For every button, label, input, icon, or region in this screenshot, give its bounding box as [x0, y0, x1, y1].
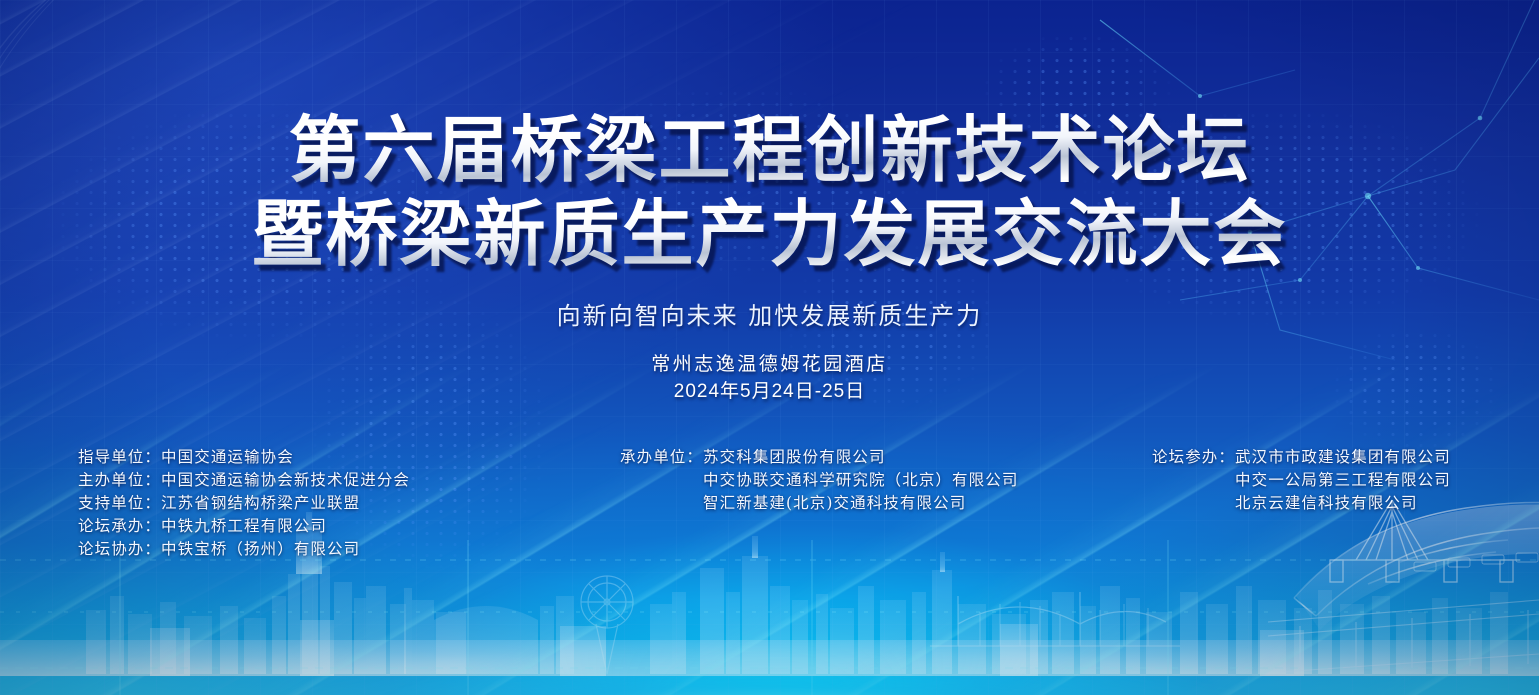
- organizer-label: 论坛参办：: [1152, 446, 1235, 469]
- organizer-row: 承办单位：中交协联交通科学研究院（北京）有限公司: [620, 469, 1018, 492]
- organizer-name: 北京云建信科技有限公司: [1235, 492, 1418, 515]
- organizer-name: 中国交通运输协会新技术促进分会: [161, 469, 410, 492]
- organizer-row: 论坛参办：中交一公局第三工程有限公司: [1152, 469, 1451, 492]
- organizer-name: 中国交通运输协会: [161, 446, 294, 469]
- conference-banner: 第六届桥梁工程创新技术论坛 暨桥梁新质生产力发展交流大会 向新向智向未来 加快发…: [0, 0, 1539, 695]
- main-title-line-2: 暨桥梁新质生产力发展交流大会: [0, 192, 1539, 276]
- organizer-name: 智汇新基建(北京)交通科技有限公司: [703, 492, 966, 515]
- event-dates: 2024年5月24日-25日: [0, 379, 1539, 405]
- organizer-name: 中铁九桥工程有限公司: [161, 515, 327, 538]
- organizers-column-left: 指导单位：中国交通运输协会主办单位：中国交通运输协会新技术促进分会支持单位：江苏…: [78, 446, 410, 561]
- banner-content: 第六届桥梁工程创新技术论坛 暨桥梁新质生产力发展交流大会 向新向智向未来 加快发…: [0, 0, 1539, 695]
- title-block: 第六届桥梁工程创新技术论坛 暨桥梁新质生产力发展交流大会: [0, 108, 1539, 276]
- organizer-row: 论坛承办：中铁九桥工程有限公司: [78, 515, 410, 538]
- organizer-row: 论坛参办：武汉市市政建设集团有限公司: [1152, 446, 1451, 469]
- organizer-name: 江苏省钢结构桥梁产业联盟: [161, 492, 360, 515]
- organizer-row: 承办单位：苏交科集团股份有限公司: [620, 446, 1018, 469]
- organizer-row: 主办单位：中国交通运输协会新技术促进分会: [78, 469, 410, 492]
- organizer-name: 中交协联交通科学研究院（北京）有限公司: [703, 469, 1018, 492]
- organizer-row: 承办单位：智汇新基建(北京)交通科技有限公司: [620, 492, 1018, 515]
- organizers-section: 指导单位：中国交通运输协会主办单位：中国交通运输协会新技术促进分会支持单位：江苏…: [0, 446, 1539, 576]
- organizer-name: 中交一公局第三工程有限公司: [1235, 469, 1451, 492]
- organizer-label: 承办单位：: [620, 446, 703, 469]
- organizer-label: 支持单位：: [78, 492, 161, 515]
- main-title-line-1: 第六届桥梁工程创新技术论坛: [0, 108, 1539, 192]
- venue-name: 常州志逸温德姆花园酒店: [0, 352, 1539, 377]
- venue-block: 常州志逸温德姆花园酒店 2024年5月24日-25日: [0, 352, 1539, 405]
- organizers-column-right: 论坛参办：武汉市市政建设集团有限公司论坛参办：中交一公局第三工程有限公司论坛参办…: [1152, 446, 1451, 515]
- organizer-row: 论坛协办：中铁宝桥（扬州）有限公司: [78, 538, 410, 561]
- organizer-label: 论坛协办：: [78, 538, 161, 561]
- organizer-label: 指导单位：: [78, 446, 161, 469]
- organizers-column-middle: 承办单位：苏交科集团股份有限公司承办单位：中交协联交通科学研究院（北京）有限公司…: [620, 446, 1018, 515]
- organizer-row: 论坛参办：北京云建信科技有限公司: [1152, 492, 1451, 515]
- event-slogan: 向新向智向未来 加快发展新质生产力: [0, 296, 1539, 331]
- organizer-label: 主办单位：: [78, 469, 161, 492]
- organizer-label: 论坛承办：: [78, 515, 161, 538]
- organizer-row: 指导单位：中国交通运输协会: [78, 446, 410, 469]
- organizer-row: 支持单位：江苏省钢结构桥梁产业联盟: [78, 492, 410, 515]
- organizer-name: 中铁宝桥（扬州）有限公司: [161, 538, 360, 561]
- organizer-name: 苏交科集团股份有限公司: [703, 446, 886, 469]
- organizer-name: 武汉市市政建设集团有限公司: [1235, 446, 1451, 469]
